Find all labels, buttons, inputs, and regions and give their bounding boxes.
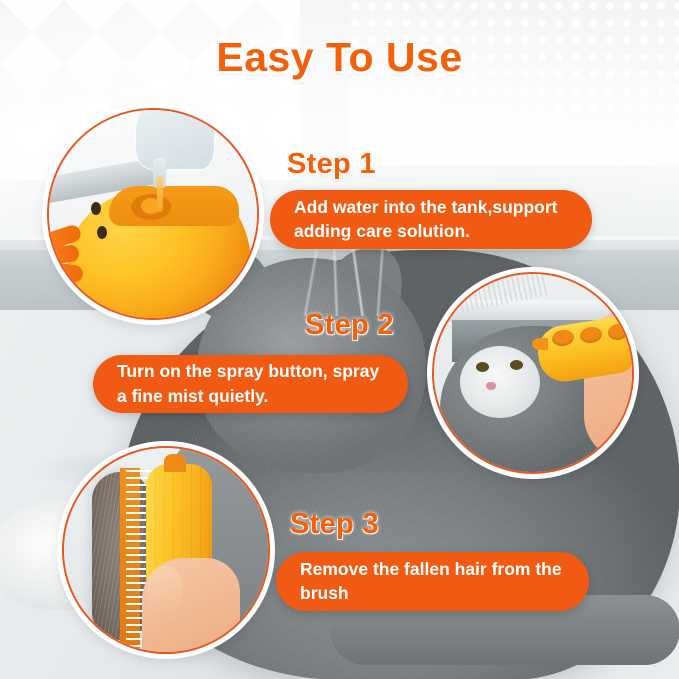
step-3-text-pill: Remove the fallen hair from the brush [276, 552, 589, 611]
water-stream [157, 176, 163, 212]
duck-device-top-panel [109, 186, 239, 226]
infographic-canvas: Easy To Use [0, 0, 679, 679]
step-2-cat-face [460, 346, 540, 418]
step-2-cat-nose [486, 382, 496, 390]
duck-eye-upper [91, 202, 101, 215]
duck-wing [49, 228, 107, 282]
step-2-photo [432, 272, 634, 474]
duck-beak [532, 338, 548, 350]
page-title: Easy To Use [0, 34, 679, 81]
step-1-text-pill: Add water into the tank,support adding c… [270, 190, 592, 249]
step-3-photo [62, 446, 270, 654]
step-2-text-pill: Turn on the spray button, spray a fine m… [93, 355, 408, 413]
dot-pattern-decor [349, 0, 679, 165]
step-3-photo-inner [64, 448, 268, 652]
step-1-text: Add water into the tank,support adding c… [294, 195, 570, 243]
brush-tail-tip [164, 454, 186, 472]
step-2-cat-eye-left [476, 362, 489, 372]
step-3-thumb [148, 566, 182, 630]
step-1-photo-inner [49, 110, 257, 318]
step-3-text: Remove the fallen hair from the brush [300, 557, 567, 605]
step-2-label: Step 2 [305, 309, 394, 342]
step-3-label: Step 3 [290, 508, 379, 541]
step-2-text: Turn on the spray button, spray a fine m… [117, 359, 386, 407]
step-2-cat-eye-right [510, 360, 523, 370]
water-bottle [135, 110, 215, 170]
step-2-photo-inner [434, 274, 632, 472]
step-1-photo [47, 108, 259, 320]
step-1-label: Step 1 [287, 148, 376, 181]
